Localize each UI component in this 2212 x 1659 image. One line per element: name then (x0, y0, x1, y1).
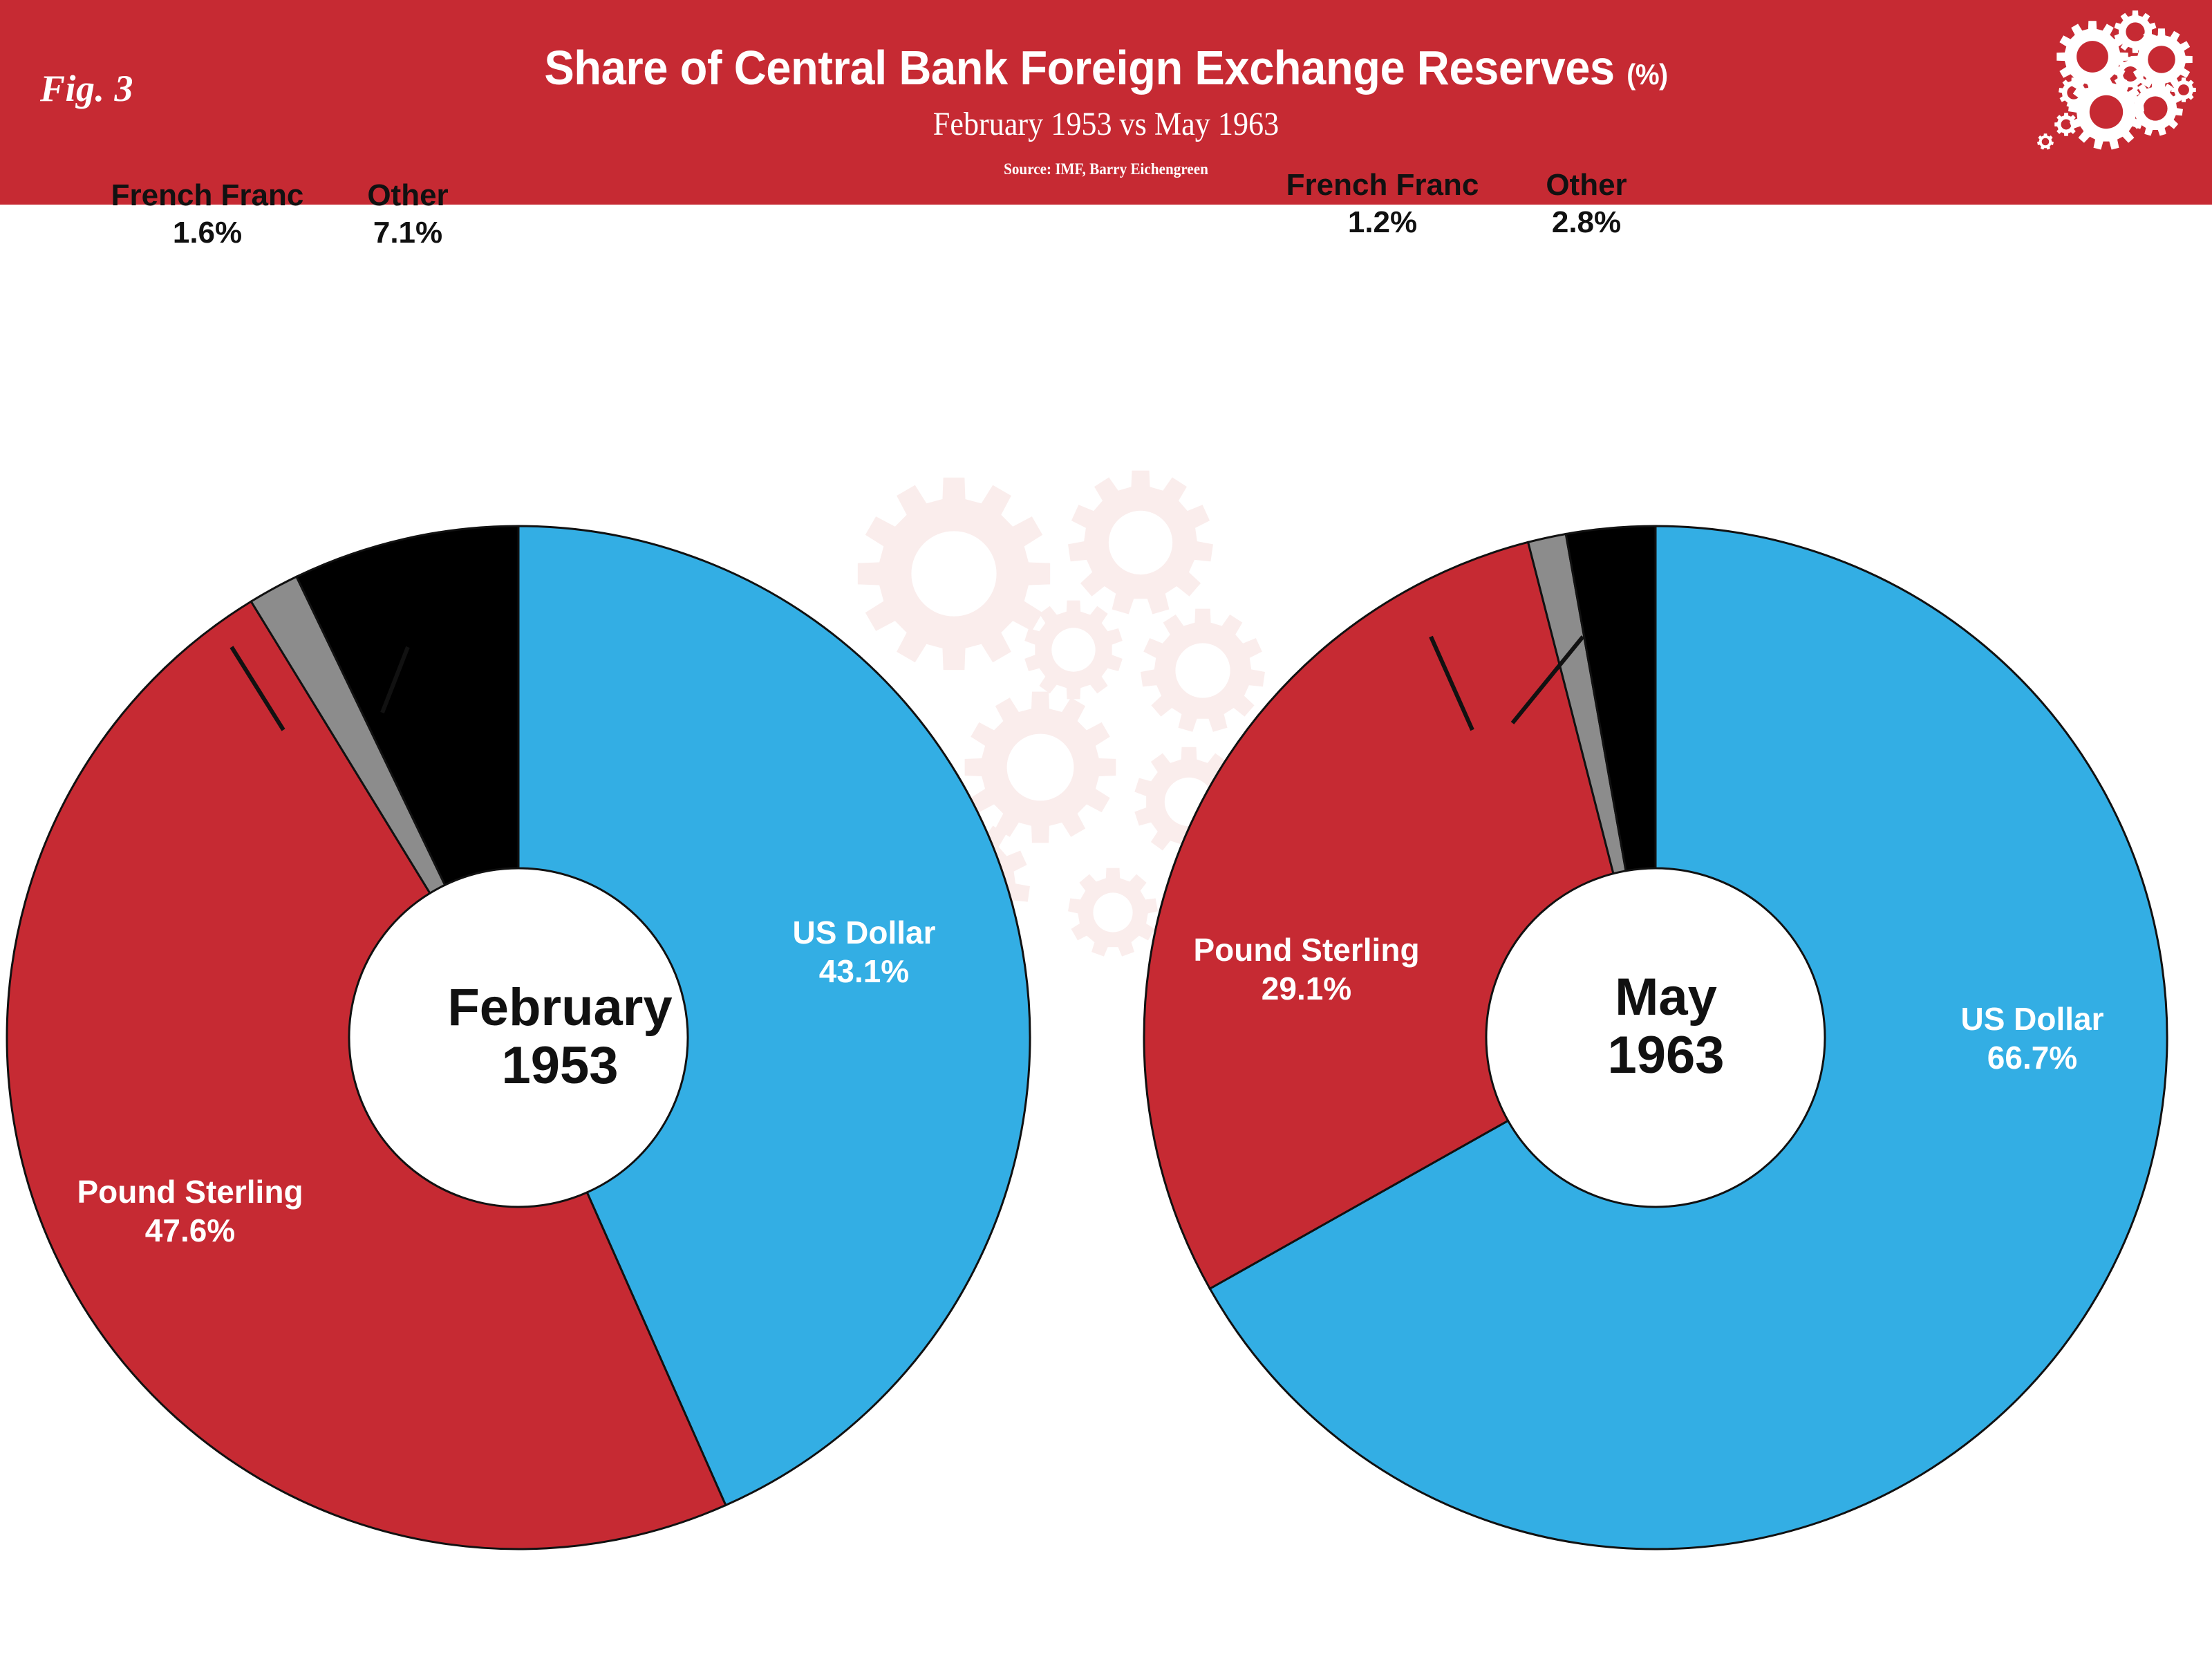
slice-label-us-dollar-right-value: 66.7% (1887, 1038, 2177, 1077)
slice-label-pound-right: Pound Sterling 29.1% (1141, 930, 1472, 1008)
gears-icon (2020, 0, 2206, 203)
donut-chart-may-1963: French Franc 1.2% Other 2.8% May 1963 Po… (1106, 205, 2212, 1659)
page-subtitle: February 1953 vs May 1963 (88, 106, 2124, 142)
center-label-left-line2: 1953 (353, 1037, 767, 1095)
slice-label-pound-right-value: 29.1% (1141, 969, 1472, 1008)
header-banner: Fig. 3 Share of Central Bank Foreign Exc… (0, 0, 2212, 205)
callout-other-right: Other 2.8% (1483, 167, 1690, 241)
slice-label-us-dollar-right-name: US Dollar (1887, 1000, 2177, 1038)
slice-label-pound-left-name: Pound Sterling (24, 1172, 356, 1211)
center-label-left-line1: February (353, 979, 767, 1037)
page-title: Share of Central Bank Foreign Exchange R… (77, 43, 2135, 100)
callout-other-left-label: Other (297, 177, 518, 214)
title-block: Share of Central Bank Foreign Exchange R… (0, 0, 2212, 178)
center-label-right: May 1963 (1459, 968, 1873, 1085)
source-note: Source: IMF, Barry Eichengreen (88, 160, 2124, 178)
slice-label-pound-left-value: 47.6% (24, 1211, 356, 1250)
center-label-left: February 1953 (353, 979, 767, 1095)
charts-area: French Franc 1.6% Other 7.1% February 19… (0, 205, 2212, 1659)
callout-other-left-value: 7.1% (297, 214, 518, 252)
slice-label-us-dollar-left: US Dollar 43.1% (719, 913, 1009, 991)
callout-other-right-value: 2.8% (1483, 204, 1690, 241)
slice-label-us-dollar-left-value: 43.1% (719, 952, 1009, 991)
slice-label-pound-left: Pound Sterling 47.6% (24, 1172, 356, 1250)
slice-label-us-dollar-right: US Dollar 66.7% (1887, 1000, 2177, 1077)
callout-other-right-label: Other (1483, 167, 1690, 204)
center-label-right-line1: May (1459, 968, 1873, 1027)
page-title-unit: (%) (1627, 58, 1667, 91)
slice-label-us-dollar-left-name: US Dollar (719, 913, 1009, 952)
center-label-right-line2: 1963 (1459, 1027, 1873, 1085)
donut-chart-february-1953: French Franc 1.6% Other 7.1% February 19… (0, 205, 1106, 1659)
page-title-text: Share of Central Bank Foreign Exchange R… (544, 41, 1614, 95)
slice-label-pound-right-name: Pound Sterling (1141, 930, 1472, 969)
callout-other-left: Other 7.1% (297, 177, 518, 252)
